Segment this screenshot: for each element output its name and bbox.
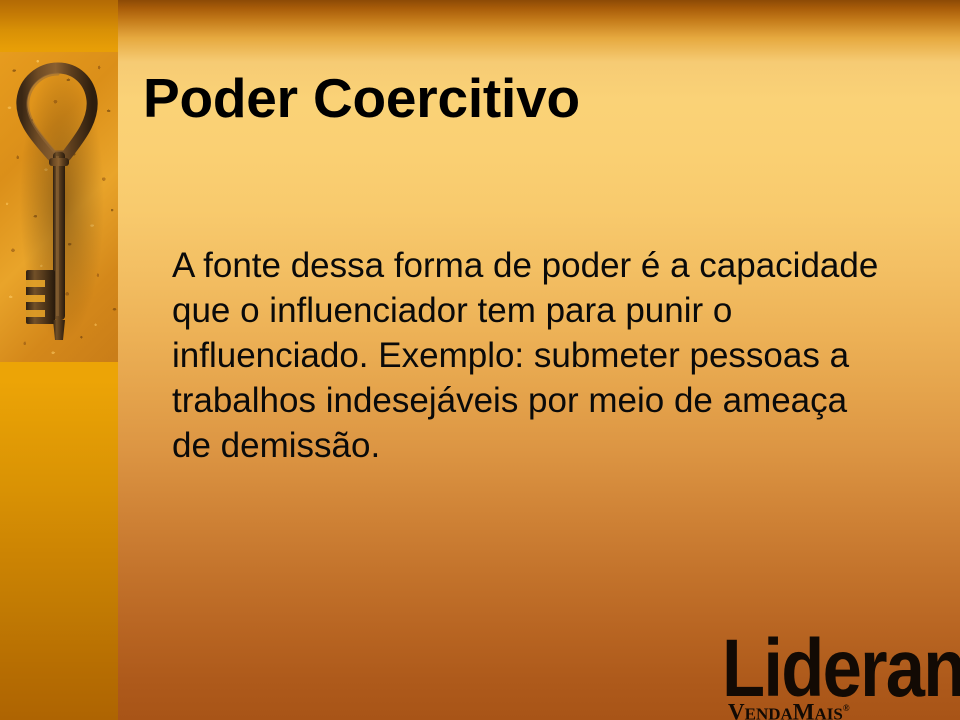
logo-sub-ais: AIS [815, 705, 843, 720]
logo-sub-enda: ENDA [745, 705, 793, 720]
logo-sub-m: M [793, 700, 815, 720]
body-line-2: que o influenciador tem para punir o [172, 288, 944, 333]
lideranca-logo: Liderança VENDAMAIS® [722, 628, 960, 720]
logo-sub-v: V [728, 700, 745, 720]
logo-subbrand-vendamais: VENDAMAIS® [728, 696, 850, 720]
slide-title: Poder Coercitivo [143, 66, 933, 130]
body-line-4: trabalhos indesejáveis por meio de ameaç… [172, 378, 944, 423]
antique-key-photo [0, 52, 118, 362]
body-line-3: influenciado. Exemplo: submeter pessoas … [172, 333, 944, 378]
presentation-slide: Poder Coercitivo A fonte dessa forma de … [0, 0, 960, 720]
sidebar-decoration-strip [0, 0, 118, 720]
logo-registered-mark: ® [843, 703, 850, 713]
slide-body-text: A fonte dessa forma de poder é a capacid… [172, 243, 944, 468]
body-line-5: de demissão. [172, 423, 944, 468]
body-line-1: A fonte dessa forma de poder é a capacid… [172, 243, 944, 288]
